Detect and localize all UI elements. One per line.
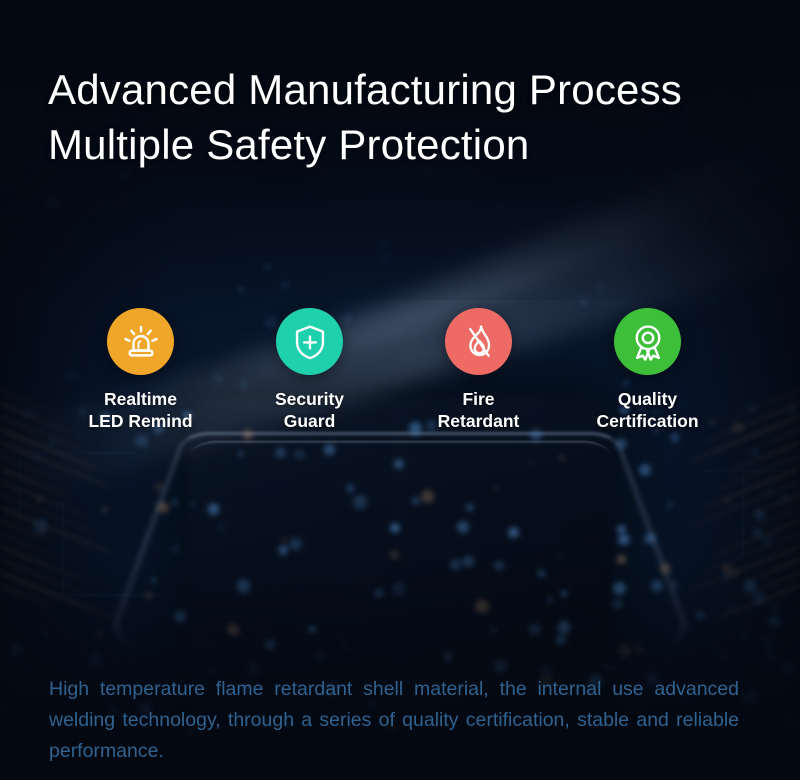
award-ribbon-icon <box>628 322 668 362</box>
feature-item-security-guard[interactable]: Security Guard <box>225 308 394 433</box>
feature-item-quality-certification[interactable]: Quality Certification <box>563 308 732 433</box>
award-ribbon-icon-badge <box>614 308 681 375</box>
description-text: High temperature flame retardant shell m… <box>49 674 739 766</box>
feature-label: Security Guard <box>275 388 344 433</box>
page-title: Advanced Manufacturing Process Multiple … <box>48 62 682 173</box>
feature-item-realtime-led-remind[interactable]: Realtime LED Remind <box>56 308 225 433</box>
feature-list: Realtime LED Remind Security Guard <box>56 308 746 433</box>
feature-item-fire-retardant[interactable]: Fire Retardant <box>394 308 563 433</box>
no-fire-flame-icon-badge <box>445 308 512 375</box>
product-feature-banner: Advanced Manufacturing Process Multiple … <box>0 0 800 780</box>
shield-plus-icon-badge <box>276 308 343 375</box>
siren-alarm-light-icon <box>121 322 161 362</box>
feature-label: Fire Retardant <box>438 388 520 433</box>
siren-alarm-light-icon-badge <box>107 308 174 375</box>
feature-label: Realtime LED Remind <box>88 388 192 433</box>
shield-plus-icon <box>290 322 330 362</box>
no-fire-flame-icon <box>459 322 499 362</box>
feature-label: Quality Certification <box>596 388 698 433</box>
banner-content: Advanced Manufacturing Process Multiple … <box>0 0 800 780</box>
